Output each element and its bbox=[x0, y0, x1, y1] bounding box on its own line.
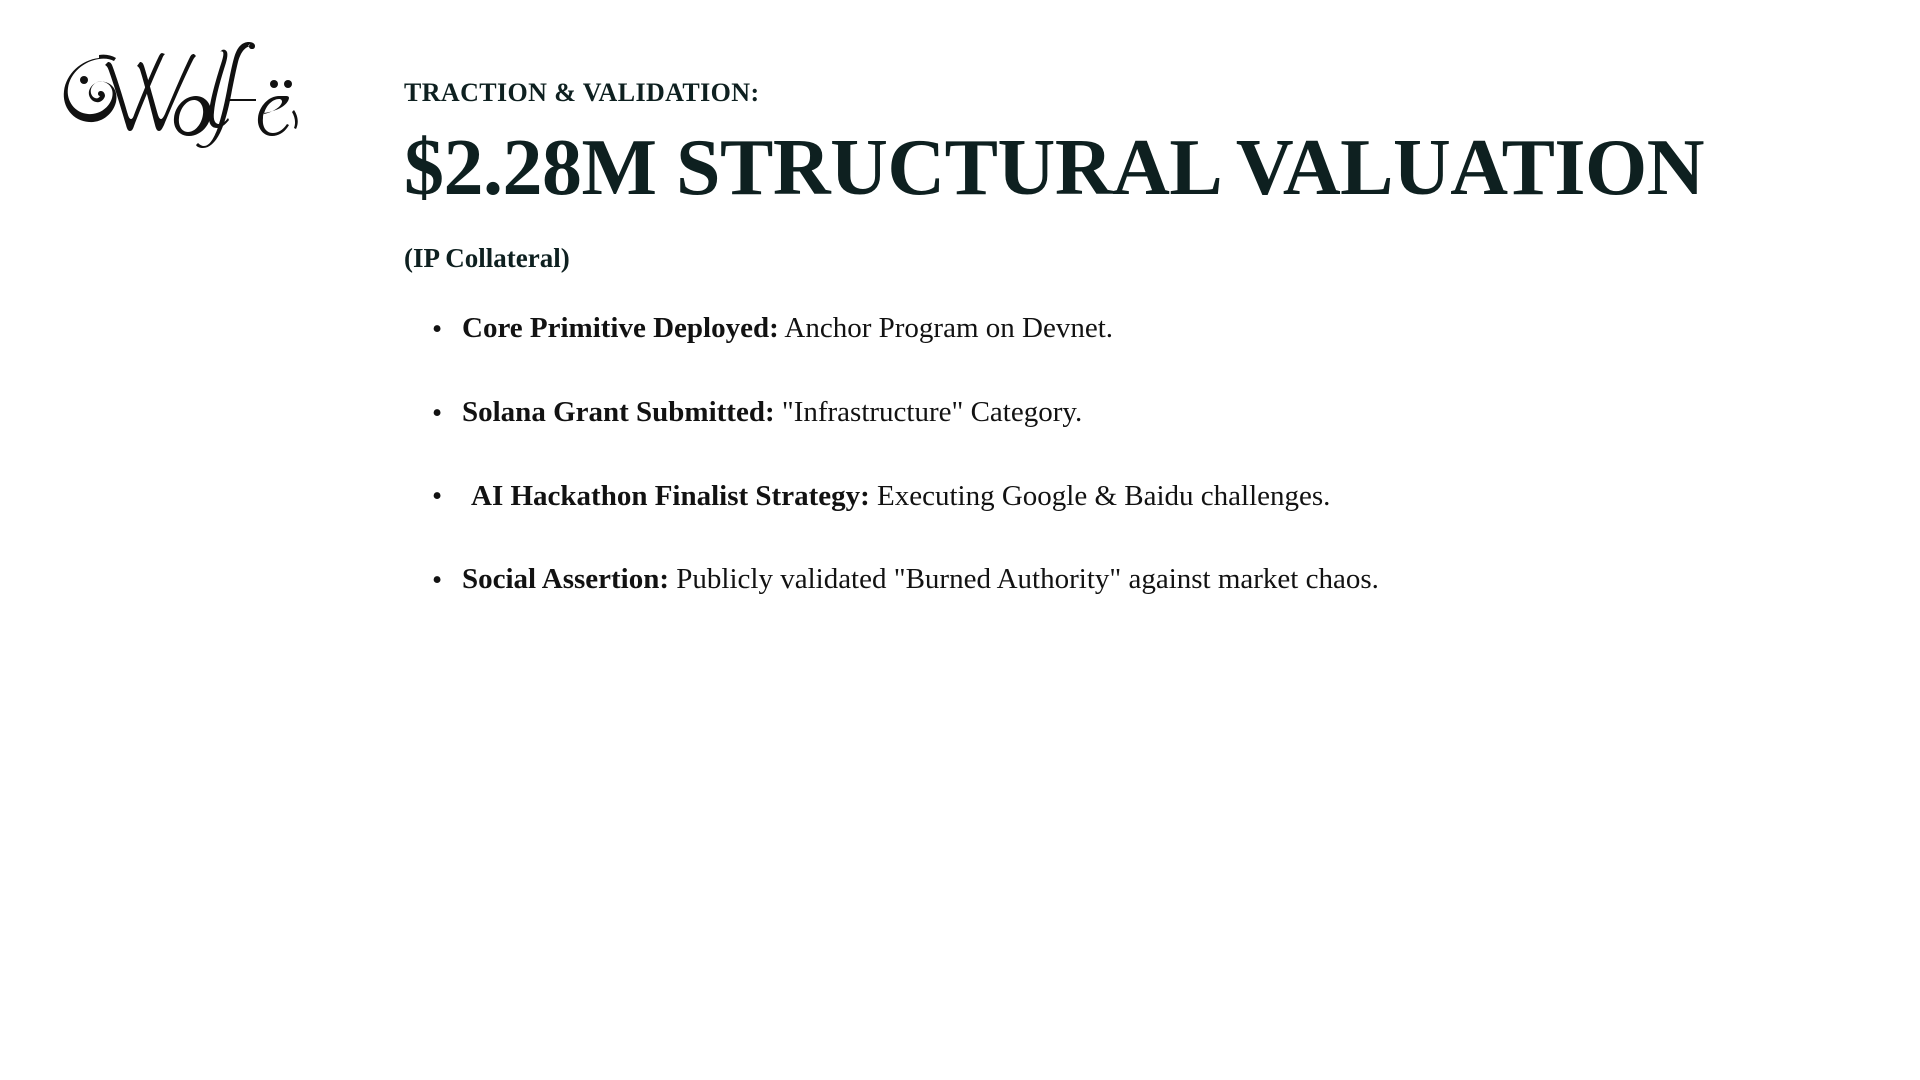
list-item: • Solana Grant Submitted: "Infrastructur… bbox=[432, 394, 1844, 432]
list-item: • AI Hackathon Finalist Strategy: Execut… bbox=[432, 478, 1844, 516]
list-item-label: Core Primitive Deployed: bbox=[462, 312, 779, 344]
bullet-dot-icon: • bbox=[432, 478, 442, 516]
list-item-text: Executing Google & Baidu challenges. bbox=[870, 480, 1331, 512]
wolfe-logo-icon bbox=[36, 22, 306, 162]
list-item-text: "Infrastructure" Category. bbox=[775, 396, 1083, 428]
slide-root: { "brand": { "logo_text": "Wolfë", "logo… bbox=[0, 0, 1920, 1080]
list-item: • Social Assertion: Publicly validated "… bbox=[432, 561, 1844, 599]
bullet-dot-icon: • bbox=[432, 395, 442, 433]
bullet-dot-icon: • bbox=[432, 562, 442, 600]
bullet-dot-icon: • bbox=[432, 311, 442, 349]
brand-logo bbox=[36, 22, 306, 162]
slide-content: TRACTION & VALIDATION: $2.28M STRUCTURAL… bbox=[404, 78, 1844, 599]
list-item-label: Social Assertion: bbox=[462, 563, 669, 595]
list-item-label: AI Hackathon Finalist Strategy: bbox=[462, 480, 870, 512]
list-item-text: Publicly validated "Burned Authority" ag… bbox=[669, 563, 1379, 595]
list-item-label: Solana Grant Submitted: bbox=[462, 396, 775, 428]
list-item: • Core Primitive Deployed: Anchor Progra… bbox=[432, 310, 1844, 348]
page-title: $2.28M STRUCTURAL VALUATION bbox=[404, 126, 1844, 210]
slide-eyebrow: TRACTION & VALIDATION: bbox=[404, 78, 1844, 108]
list-item-text: Anchor Program on Devnet. bbox=[779, 312, 1113, 344]
traction-bullet-list: • Core Primitive Deployed: Anchor Progra… bbox=[404, 310, 1844, 599]
slide-subhead: (IP Collateral) bbox=[404, 242, 1844, 274]
